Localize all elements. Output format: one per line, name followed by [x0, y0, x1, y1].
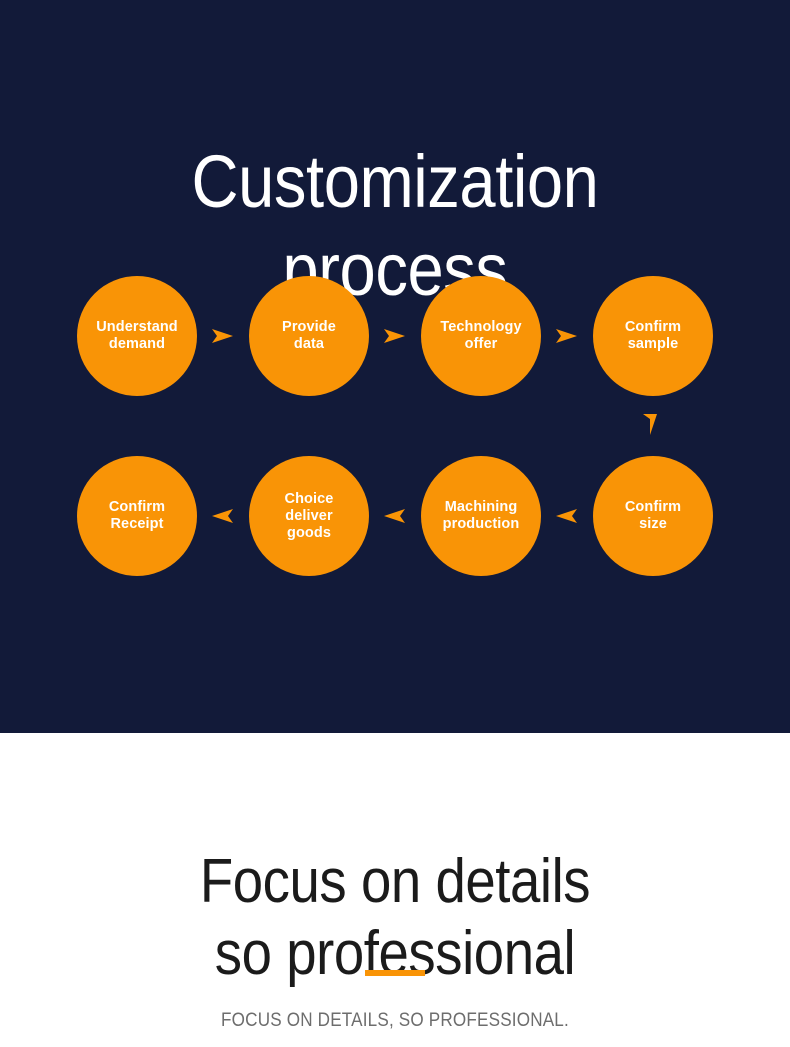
process-node-label: Confirm size [619, 499, 687, 533]
customization-process-page: Customization process Understand demand [0, 0, 790, 1047]
flow-connector-down [633, 408, 667, 442]
process-flow-diagram: Understand demand Provide data [0, 276, 790, 576]
process-node-label: Machining production [437, 499, 526, 533]
footer-subtitle: FOCUS ON DETAILS, SO PROFESSIONAL. [40, 1010, 751, 1032]
process-node-technology-offer[interactable]: Technology offer [421, 276, 541, 396]
process-node-label: Technology offer [434, 319, 527, 353]
arrow-down-icon [640, 412, 660, 438]
process-node-provide-data[interactable]: Provide data [249, 276, 369, 396]
process-node-confirm-sample[interactable]: Confirm sample [593, 276, 713, 396]
footer-headline-line-1: Focus on details [47, 846, 742, 918]
process-node-label: Provide data [276, 319, 342, 353]
process-node-label: Confirm sample [619, 319, 687, 353]
arrow-left-icon [382, 506, 408, 526]
process-node-label: Choice deliver goods [279, 491, 340, 542]
arrow-right-icon [382, 326, 408, 346]
process-node-label: Confirm Receipt [103, 499, 171, 533]
arrow-left-icon [554, 506, 580, 526]
arrow-right-icon [210, 326, 236, 346]
process-node-label: Understand demand [90, 319, 184, 353]
process-flow-row-2: Confirm Receipt Choice deliver goods [0, 456, 790, 576]
flow-connector-right-2 [369, 276, 421, 396]
process-node-confirm-receipt[interactable]: Confirm Receipt [77, 456, 197, 576]
process-node-choice-deliver-goods[interactable]: Choice deliver goods [249, 456, 369, 576]
footer-headline: Focus on details so professional [47, 846, 742, 990]
process-flow-row-1: Understand demand Provide data [0, 276, 790, 396]
footer-headline-line-2: so professional [47, 918, 742, 990]
process-node-machining-production[interactable]: Machining production [421, 456, 541, 576]
hero-panel: Customization process Understand demand [0, 0, 790, 733]
flow-connector-right-3 [541, 276, 593, 396]
flow-connector-left-2 [369, 456, 421, 576]
page-title-line-1: Customization [47, 138, 742, 226]
arrow-left-icon [210, 506, 236, 526]
flow-connector-right-1 [197, 276, 249, 396]
process-node-confirm-size[interactable]: Confirm size [593, 456, 713, 576]
accent-divider [365, 970, 425, 976]
arrow-right-icon [554, 326, 580, 346]
flow-connector-left-3 [541, 456, 593, 576]
flow-connector-left-1 [197, 456, 249, 576]
process-node-understand-demand[interactable]: Understand demand [77, 276, 197, 396]
footer-panel: Focus on details so professional FOCUS O… [0, 733, 790, 1047]
